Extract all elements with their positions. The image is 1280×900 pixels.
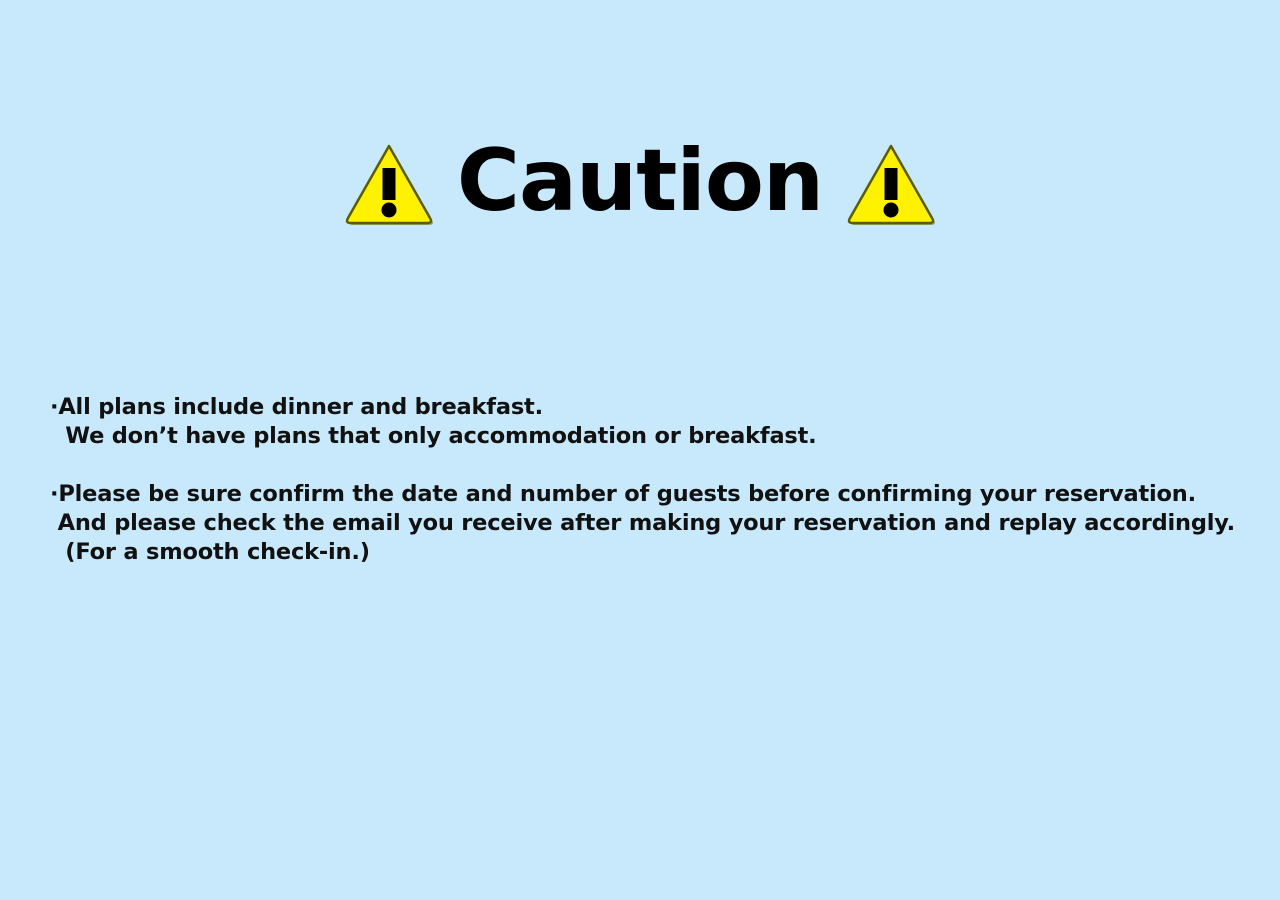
notice-line: And please check the email you receive a… [50,509,1270,538]
page-title: Caution [0,138,1280,230]
notice-line: ·All plans include dinner and breakfast. [50,393,1270,422]
page-title-text: Caution [457,138,823,230]
warning-triangle-icon [845,140,937,228]
slide-canvas: Caution ·All plans include dinner and br… [0,0,1280,900]
notice-item: ·All plans include dinner and breakfast.… [50,393,1270,451]
notice-line: (For a smooth check-in.) [50,538,1270,567]
notice-line: We don’t have plans that only accommodat… [50,422,1270,451]
warning-triangle-icon [343,140,435,228]
notice-list: ·All plans include dinner and breakfast.… [50,393,1270,567]
notice-line: ·Please be sure confirm the date and num… [50,480,1270,509]
notice-item: ·Please be sure confirm the date and num… [50,480,1270,567]
